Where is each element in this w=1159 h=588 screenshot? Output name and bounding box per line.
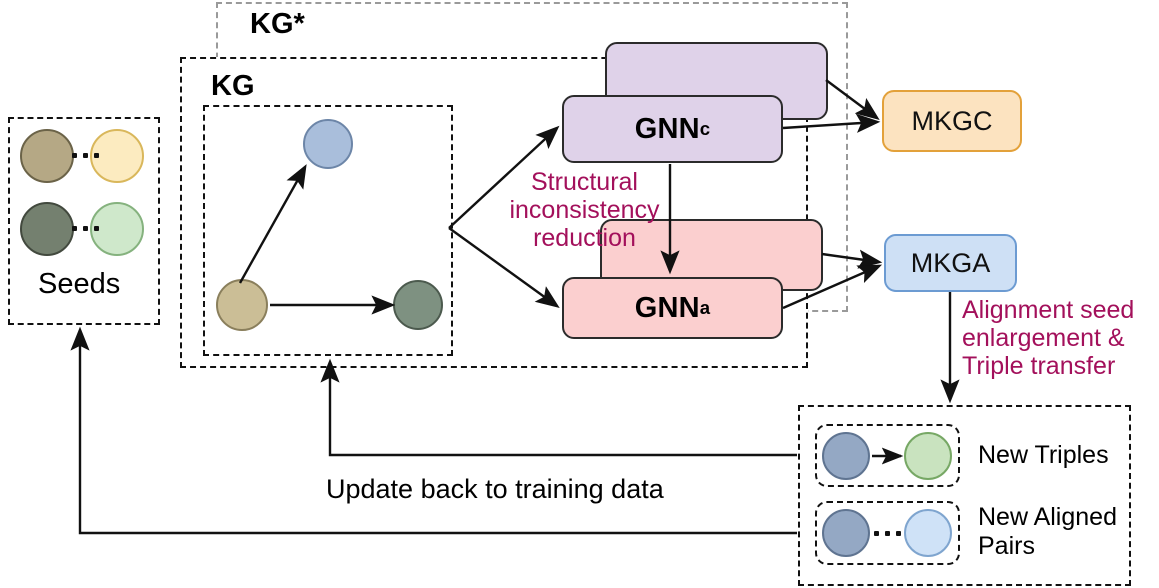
mkgc-label: MKGC	[912, 106, 993, 137]
mkga-label: MKGA	[911, 248, 991, 279]
seed-link-dots-bottom	[72, 226, 99, 231]
seed-node-khaki	[20, 129, 74, 183]
kg-node-blue	[303, 119, 353, 169]
pair-link-dots	[874, 531, 901, 536]
triple-head-node	[822, 432, 870, 480]
gnn-c-label: GNN	[635, 113, 700, 146]
seed-link-dots-top	[72, 153, 99, 158]
update-back-label: Update back to training data	[326, 474, 664, 505]
diagram-canvas: KG* KG Seeds GNNc GNNa MKGC MKGA	[0, 0, 1159, 588]
gnn-c-sublabel: c	[700, 118, 711, 140]
triple-tail-node	[904, 432, 952, 480]
pair-right-node	[904, 509, 952, 557]
new-triples-label: New Triples	[978, 441, 1109, 470]
pair-left-node	[822, 509, 870, 557]
gnn-a-sublabel: a	[700, 297, 711, 319]
alignment-transfer-label: Alignment seed enlargement & Triple tran…	[962, 296, 1159, 380]
gnn-a-box[interactable]: GNNa	[562, 277, 783, 339]
mkga-box[interactable]: MKGA	[884, 234, 1017, 292]
kg-node-khaki	[216, 279, 268, 331]
new-aligned-pairs-label: New Aligned Pairs	[978, 503, 1117, 561]
new-triples-feedback-path	[330, 362, 797, 455]
seed-node-sage	[20, 202, 74, 256]
kg-node-sage	[393, 280, 443, 330]
structural-reduction-label: Structural inconsistency reduction	[497, 168, 672, 252]
seeds-caption: Seeds	[38, 268, 120, 301]
mkgc-box[interactable]: MKGC	[882, 90, 1022, 152]
kg-star-label: KG*	[250, 8, 305, 41]
gnn-a-label: GNN	[635, 292, 700, 325]
gnn-c-box[interactable]: GNNc	[562, 95, 783, 163]
kg-label: KG	[211, 70, 255, 103]
